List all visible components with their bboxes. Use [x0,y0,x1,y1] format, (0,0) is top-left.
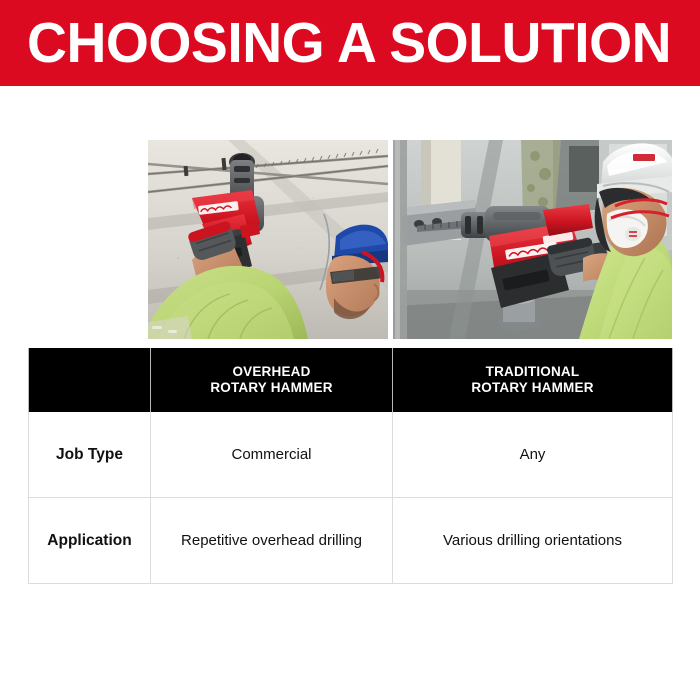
photo-strip [148,140,672,339]
overhead-rotary-hammer-photo [148,140,388,339]
traditional-drilling-illustration [393,140,672,339]
cell-job-type-traditional: Any [393,412,673,498]
cell-application-traditional: Various drilling orientations [393,498,673,584]
cell-application-overhead: Repetitive overhead drilling [151,498,393,584]
cell-job-type-overhead: Commercial [151,412,393,498]
table-row: Application Repetitive overhead drilling… [29,498,673,584]
header-overhead-line2: ROTARY HAMMER [151,380,392,396]
header-traditional-line1: TRADITIONAL [393,364,672,380]
header-overhead-line1: OVERHEAD [151,364,392,380]
comparison-table: OVERHEAD ROTARY HAMMER TRADITIONAL ROTAR… [28,348,673,584]
header-traditional-line2: ROTARY HAMMER [393,380,672,396]
row-label-application: Application [29,498,151,584]
header-cell-empty [29,348,151,412]
traditional-rotary-hammer-photo [393,140,672,339]
page-title: CHOOSING A SOLUTION [27,15,671,72]
overhead-drilling-illustration [148,140,388,339]
header-cell-traditional: TRADITIONAL ROTARY HAMMER [393,348,673,412]
header-cell-overhead: OVERHEAD ROTARY HAMMER [151,348,393,412]
row-label-job-type: Job Type [29,412,151,498]
table-header-row: OVERHEAD ROTARY HAMMER TRADITIONAL ROTAR… [29,348,673,412]
page-header-banner: CHOOSING A SOLUTION [0,0,700,86]
table-row: Job Type Commercial Any [29,412,673,498]
